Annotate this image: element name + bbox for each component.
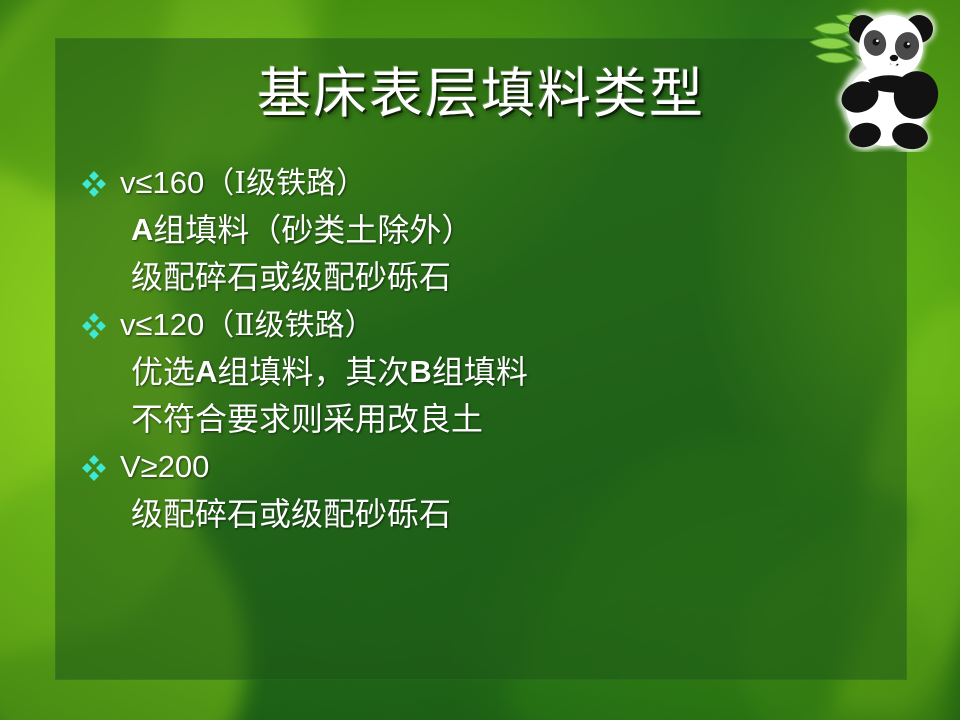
sub-line-post-secondary: 组填料 [432,356,528,388]
railway-class-label: （Ⅱ级铁路） [204,309,374,342]
list-item-text: v≤120（Ⅱ级铁路） [120,309,375,341]
list-item[interactable]: v≤160（Ⅰ级铁路） [75,160,889,206]
sub-line: A 组填料（砂类土除外） [75,206,889,253]
speed-value: v≤160 [120,165,204,200]
four-diamond-bullet-icon [81,313,107,339]
sub-line: 级配碎石或级配砂砾石 [75,253,889,300]
list-item[interactable]: v≤120（Ⅱ级铁路） [75,302,889,348]
sub-line: 优选A 组填料，其次B组填料 [75,348,889,395]
fill-group-code: A [131,214,153,245]
content-panel: 基床表层填料类型 v≤160 [55,38,907,680]
panda-with-bamboo-icon [806,2,952,152]
sub-line-post: 组填料（砂类土除外） [153,214,473,246]
list-item-text: v≤160（Ⅰ级铁路） [120,167,366,199]
railway-class-label: （Ⅰ级铁路） [204,167,366,200]
sub-line-pre: 不符合要求则采用改良土 [131,403,483,435]
bullet-group: v≤120（Ⅱ级铁路） 优选A 组填料，其次B组填料 不符合要求则采用改良土 [75,302,889,442]
sub-line-post: 组填料，其次 [217,356,409,388]
sub-line-pre: 级配碎石或级配砂砾石 [131,261,451,293]
sub-line-pre: 优选 [131,356,195,388]
bullet-list: v≤160（Ⅰ级铁路） A 组填料（砂类土除外） 级配碎石或级配砂砾石 [75,160,889,539]
list-item-text: V≥200 [120,451,209,483]
bullet-group: v≤160（Ⅰ级铁路） A 组填料（砂类土除外） 级配碎石或级配砂砾石 [75,160,889,300]
sub-line: 级配碎石或级配砂砾石 [75,490,889,537]
sub-line: 不符合要求则采用改良土 [75,395,889,442]
fill-group-code-secondary: B [409,356,431,387]
sub-line-pre: 级配碎石或级配砂砾石 [131,498,451,530]
list-item[interactable]: V≥200 [75,444,889,490]
bullet-group: V≥200 级配碎石或级配砂砾石 [75,444,889,537]
speed-value: V≥200 [120,449,209,484]
slide-title: 基床表层填料类型 [55,66,907,123]
speed-value: v≤120 [120,307,204,342]
four-diamond-bullet-icon [81,455,107,481]
fill-group-code: A [195,356,217,387]
four-diamond-bullet-icon [81,171,107,197]
presentation-slide: 基床表层填料类型 v≤160 [0,0,960,720]
